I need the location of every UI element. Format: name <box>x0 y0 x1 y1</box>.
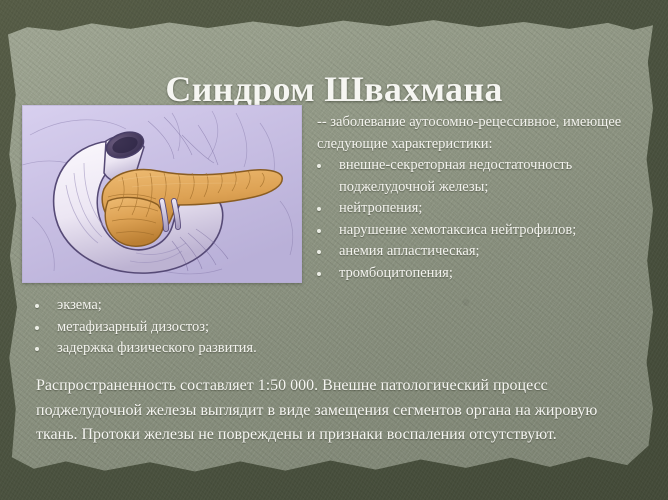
list-item: задержка физического развития. <box>28 338 428 360</box>
list-item: нарушение хемотаксиса нейтрофилов; <box>310 220 655 242</box>
list-item: анемия апластическая; <box>310 241 655 263</box>
bullet-dot-icon <box>317 207 321 211</box>
list-item-label: внешне-секреторная недостаточность подже… <box>339 155 655 198</box>
additional-symptoms-list: экзема; метафизарный дизостоз; задержка … <box>28 295 428 360</box>
bullet-dot-icon <box>317 164 321 168</box>
characteristics-block: -- заболевание аутосомно-рецессивное, им… <box>310 112 655 284</box>
list-item: тромбоцитопения; <box>310 263 655 285</box>
list-item-label: метафизарный дизостоз; <box>57 317 428 339</box>
bullet-dot-icon <box>317 272 321 276</box>
list-item-label: задержка физического развития. <box>57 338 428 360</box>
list-item-label: тромбоцитопения; <box>339 263 655 285</box>
bullet-dot-icon <box>35 304 39 308</box>
list-item: экзема; <box>28 295 428 317</box>
pancreas-illustration-svg <box>22 105 302 283</box>
prevalence-paragraph: Распространенность составляет 1:50 000. … <box>36 374 636 448</box>
list-item: метафизарный дизостоз; <box>28 317 428 339</box>
bullet-dot-icon <box>317 229 321 233</box>
lead-text: -- заболевание аутосомно-рецессивное, им… <box>317 112 655 155</box>
pancreas-duodenum-illustration <box>22 105 302 283</box>
paragraph-text: Распространенность составляет 1:50 000. … <box>36 374 636 448</box>
list-item: внешне-секреторная недостаточность подже… <box>310 155 655 198</box>
page-title: Синдром Швахмана <box>0 68 668 110</box>
list-item-label: нарушение хемотаксиса нейтрофилов; <box>339 220 655 242</box>
bullet-dot-icon <box>35 326 39 330</box>
list-item-label: экзема; <box>57 295 428 317</box>
list-item-label: нейтропения; <box>339 198 655 220</box>
list-item: нейтропения; <box>310 198 655 220</box>
slide-canvas: Синдром Швахмана <box>0 0 668 500</box>
characteristics-list: внешне-секреторная недостаточность подже… <box>310 155 655 284</box>
bullet-dot-icon <box>35 347 39 351</box>
additional-symptoms-block: экзема; метафизарный дизостоз; задержка … <box>28 295 428 360</box>
bullet-dot-icon <box>317 250 321 254</box>
list-item-label: анемия апластическая; <box>339 241 655 263</box>
